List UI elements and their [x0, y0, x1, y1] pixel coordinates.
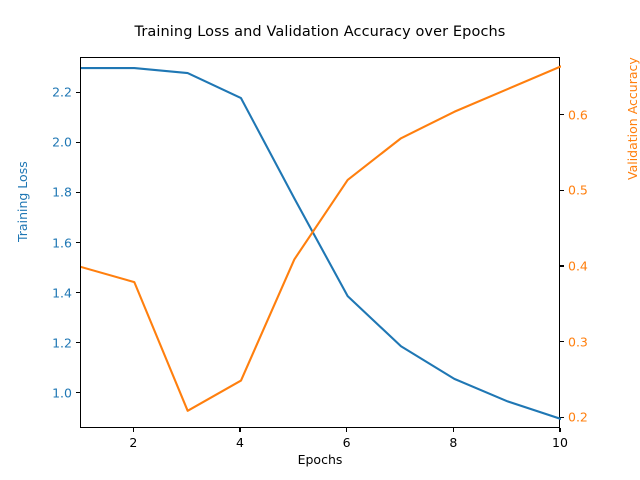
- y-tick-label-right: 0.5: [568, 183, 588, 198]
- x-tick-label: 10: [552, 435, 568, 450]
- x-tick-label: 4: [236, 435, 244, 450]
- y-tick-label-left: 1.2: [32, 335, 72, 350]
- x-tick-label: 6: [343, 435, 351, 450]
- x-tick-label: 8: [449, 435, 457, 450]
- y-axis-left-label: Training Loss: [15, 161, 30, 242]
- y-tick-label-right: 0.3: [568, 334, 588, 349]
- x-axis-label: Epochs: [80, 452, 560, 467]
- chart-title: Training Loss and Validation Accuracy ov…: [0, 24, 640, 40]
- y-tick-label-left: 1.4: [32, 285, 72, 300]
- y-tick-label-right: 0.2: [568, 410, 588, 425]
- y-axis-right-label: Validation Accuracy: [625, 57, 640, 180]
- plot-lines: [81, 58, 561, 429]
- y-tick-label-left: 1.8: [32, 185, 72, 200]
- x-tick-label: 2: [129, 435, 137, 450]
- y-tick-label-right: 0.4: [568, 258, 588, 273]
- plot-area: [80, 57, 560, 428]
- line-validation-accuracy: [81, 66, 561, 411]
- y-tick-label-right: 0.6: [568, 107, 588, 122]
- figure-canvas: Training Loss and Validation Accuracy ov…: [0, 0, 640, 480]
- y-tick-label-left: 1.6: [32, 235, 72, 250]
- line-training-loss: [81, 68, 561, 419]
- y-tick-label-left: 1.0: [32, 385, 72, 400]
- y-tick-label-left: 2.2: [32, 85, 72, 100]
- y-tick-label-left: 2.0: [32, 135, 72, 150]
